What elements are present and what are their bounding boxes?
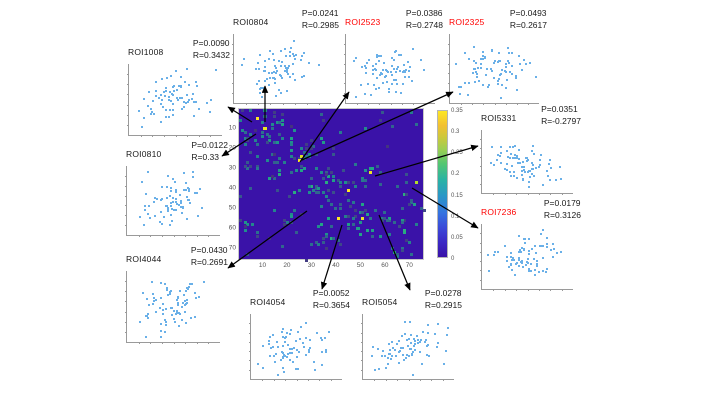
scatter-point bbox=[147, 105, 149, 107]
scatter-point bbox=[309, 347, 311, 349]
panel-header: ROI2325 P=0.0493 R=0.2617 bbox=[449, 8, 547, 34]
scatter-point bbox=[378, 87, 380, 89]
r-value: R=0.3432 bbox=[193, 50, 230, 62]
scatter-point bbox=[308, 349, 310, 351]
p-value: P=0.0052 bbox=[313, 288, 350, 300]
heatmap-cell bbox=[379, 235, 382, 238]
heatmap-cell bbox=[249, 109, 252, 112]
scatter-point bbox=[546, 246, 548, 248]
heatmap-cell bbox=[249, 165, 252, 168]
scatter-point bbox=[393, 79, 395, 81]
y-axis-tick bbox=[232, 44, 234, 45]
scatter-point bbox=[528, 186, 530, 188]
heatmap-cell bbox=[401, 221, 404, 224]
heatmap-cell bbox=[401, 207, 404, 210]
scatter-point bbox=[547, 175, 549, 177]
scatter-point bbox=[473, 60, 475, 62]
colorbar-tick-label: 0.1 bbox=[451, 214, 459, 220]
scatter-point bbox=[300, 59, 302, 61]
scatter-point bbox=[517, 162, 519, 164]
heatmap-x-tick-label: 50 bbox=[357, 262, 364, 269]
scatter-point bbox=[177, 296, 179, 298]
scatter-point bbox=[397, 66, 399, 68]
colorbar-tick-label: 0.2 bbox=[451, 171, 459, 177]
scatter-point bbox=[164, 283, 166, 285]
heatmap-cell bbox=[361, 203, 364, 206]
heatmap-y-tick-label: 10 bbox=[226, 125, 236, 132]
scatter-point bbox=[276, 70, 278, 72]
r-value: R=0.2617 bbox=[510, 20, 547, 32]
scatter-plot-area bbox=[250, 314, 342, 380]
scatter-point bbox=[270, 347, 272, 349]
heatmap-cell bbox=[339, 181, 342, 184]
heatmap-cell bbox=[330, 171, 333, 174]
panel-stats: P=0.0351 R=-0.2797 bbox=[541, 104, 581, 127]
scatter-point bbox=[391, 74, 393, 76]
scatter-point bbox=[372, 346, 374, 348]
scatter-point bbox=[403, 359, 405, 361]
scatter-point bbox=[152, 100, 154, 102]
x-axis-tick bbox=[270, 103, 271, 105]
scatter-point bbox=[513, 259, 515, 261]
x-axis-tick bbox=[176, 135, 177, 137]
heatmap-cell bbox=[330, 225, 333, 228]
y-axis-tick bbox=[232, 93, 234, 94]
y-axis-tick bbox=[125, 322, 127, 323]
y-axis-tick bbox=[127, 115, 129, 116]
scatter-point bbox=[163, 91, 165, 93]
scatter-point bbox=[509, 71, 511, 73]
scatter-point bbox=[165, 109, 167, 111]
heatmap-cell bbox=[310, 243, 313, 246]
scatter-point bbox=[508, 62, 510, 64]
scatter-point bbox=[287, 353, 289, 355]
scatter-point bbox=[373, 84, 375, 86]
heatmap-cell bbox=[369, 171, 372, 174]
p-value: P=0.0122 bbox=[191, 140, 228, 152]
scatter-point bbox=[160, 282, 162, 284]
scatter-point bbox=[378, 60, 380, 62]
scatter-point bbox=[264, 80, 266, 82]
scatter-point bbox=[286, 90, 288, 92]
scatter-point bbox=[555, 179, 557, 181]
heatmap-cell bbox=[354, 209, 357, 212]
scatter-point bbox=[524, 242, 526, 244]
heatmap-cell bbox=[332, 179, 335, 182]
panel-stats: P=0.0052 R=0.3654 bbox=[313, 288, 350, 311]
heatmap-cell bbox=[278, 133, 281, 136]
scatter-point bbox=[427, 324, 429, 326]
scatter-point bbox=[186, 302, 188, 304]
x-axis-tick bbox=[283, 103, 284, 105]
r-value: R=0.2691 bbox=[191, 257, 228, 269]
scatter-point bbox=[268, 72, 270, 74]
scatter-point bbox=[292, 361, 294, 363]
scatter-point bbox=[169, 109, 171, 111]
scatter-point bbox=[516, 177, 518, 179]
scatter-point bbox=[535, 76, 537, 78]
scatter-point bbox=[199, 188, 201, 190]
x-axis-tick bbox=[295, 103, 296, 105]
scatter-point bbox=[277, 346, 279, 348]
scatter-point bbox=[374, 369, 376, 371]
scatter-point bbox=[521, 260, 523, 262]
heatmap-cell bbox=[332, 147, 335, 150]
scatter-point bbox=[506, 256, 508, 258]
heatmap-cell bbox=[379, 183, 382, 186]
y-axis-tick bbox=[125, 281, 127, 282]
heatmap-cell bbox=[322, 119, 325, 122]
scatter-point bbox=[294, 79, 296, 81]
y-axis-tick bbox=[125, 215, 127, 216]
y-axis-tick bbox=[480, 157, 482, 158]
heatmap-cell bbox=[408, 241, 411, 244]
scatter-point bbox=[269, 336, 271, 338]
x-axis-tick bbox=[162, 342, 163, 344]
scatter-point bbox=[160, 330, 162, 332]
x-axis-tick bbox=[164, 135, 165, 137]
scatter-point bbox=[355, 96, 357, 98]
x-axis-tick bbox=[505, 289, 506, 291]
scatter-point bbox=[179, 290, 181, 292]
scatter-point bbox=[182, 206, 184, 208]
scatter-point bbox=[175, 201, 177, 203]
scatter-point bbox=[325, 351, 327, 353]
scatter-point bbox=[150, 108, 152, 110]
heatmap-cell bbox=[244, 143, 247, 146]
heatmap-cell bbox=[315, 153, 318, 156]
x-axis-tick bbox=[285, 379, 286, 381]
scatter-point bbox=[147, 171, 149, 173]
scatter-point bbox=[194, 316, 196, 318]
y-axis-tick bbox=[127, 105, 129, 106]
x-axis-tick bbox=[174, 235, 175, 237]
scatter-point bbox=[368, 59, 370, 61]
x-axis-tick bbox=[516, 193, 517, 195]
colorbar-tick-label: 0.35 bbox=[451, 108, 463, 114]
r-value: R=0.33 bbox=[191, 152, 228, 164]
scatter-point bbox=[289, 55, 291, 57]
y-axis-tick bbox=[125, 301, 127, 302]
scatter-point bbox=[297, 331, 299, 333]
r-value: R=0.2748 bbox=[406, 20, 443, 32]
heatmap-cell bbox=[322, 177, 325, 180]
heatmap-cell bbox=[256, 167, 259, 170]
scatter-point bbox=[303, 52, 305, 54]
scatter-point bbox=[143, 224, 145, 226]
roi-label: ROI5331 bbox=[481, 113, 516, 123]
scatter-point bbox=[171, 314, 173, 316]
roi-label: ROI5054 bbox=[362, 297, 397, 307]
scatter-point bbox=[497, 251, 499, 253]
scatter-point bbox=[408, 70, 410, 72]
scatter-point bbox=[289, 76, 291, 78]
scatter-point bbox=[521, 69, 523, 71]
heatmap-cell bbox=[339, 243, 342, 246]
scatter-point bbox=[509, 171, 511, 173]
scatter-point bbox=[518, 251, 520, 253]
scatter-panel-roi0810: ROI0810 P=0.0122 R=0.33 bbox=[126, 140, 228, 236]
scatter-point bbox=[372, 73, 374, 75]
colorbar-tick-label: 0.25 bbox=[451, 150, 463, 156]
scatter-point bbox=[412, 351, 414, 353]
scatter-point bbox=[160, 103, 162, 105]
scatter-point bbox=[188, 84, 190, 86]
panel-header: ROI1008 P=0.0090 R=0.3432 bbox=[128, 38, 230, 64]
scatter-point bbox=[173, 318, 175, 320]
x-axis-tick bbox=[307, 103, 308, 105]
scatter-point bbox=[142, 292, 144, 294]
scatter-point bbox=[273, 355, 275, 357]
scatter-point bbox=[172, 197, 174, 199]
heatmap-cell bbox=[244, 229, 247, 232]
y-axis-tick bbox=[127, 84, 129, 85]
heatmap-cell bbox=[278, 169, 281, 172]
panel-header: ROI0810 P=0.0122 R=0.33 bbox=[126, 140, 228, 166]
x-axis-tick bbox=[528, 289, 529, 291]
scatter-point bbox=[155, 81, 157, 83]
heatmap-cell bbox=[239, 195, 242, 198]
heatmap-cell bbox=[271, 175, 274, 178]
scatter-point bbox=[370, 94, 372, 96]
scatter-point bbox=[146, 315, 148, 317]
scatter-point bbox=[186, 299, 188, 301]
scatter-point bbox=[540, 154, 542, 156]
heatmap-cell bbox=[320, 171, 323, 174]
scatter-point bbox=[282, 345, 284, 347]
x-axis-tick bbox=[562, 193, 563, 195]
scatter-point bbox=[186, 94, 188, 96]
heatmap-cell bbox=[347, 189, 350, 192]
scatter-point bbox=[180, 76, 182, 78]
x-axis-tick bbox=[397, 379, 398, 381]
scatter-point bbox=[518, 235, 520, 237]
x-axis-tick bbox=[187, 135, 188, 137]
scatter-point bbox=[186, 68, 188, 70]
scatter-point bbox=[149, 217, 151, 219]
heatmap-y-tick-label: 60 bbox=[226, 225, 236, 232]
scatter-point bbox=[314, 369, 316, 371]
scatter-point bbox=[458, 86, 460, 88]
y-axis-tick bbox=[448, 83, 450, 84]
y-axis-tick bbox=[232, 54, 234, 55]
scatter-point bbox=[549, 159, 551, 161]
heatmap-cell bbox=[322, 241, 325, 244]
heatmap-cell bbox=[325, 235, 328, 238]
x-axis-tick bbox=[152, 135, 153, 137]
scatter-point bbox=[408, 76, 410, 78]
x-axis-tick bbox=[308, 379, 309, 381]
scatter-point bbox=[409, 321, 411, 323]
scatter-point bbox=[396, 343, 398, 345]
scatter-point bbox=[160, 121, 162, 123]
scatter-point bbox=[195, 101, 197, 103]
scatter-point bbox=[175, 191, 177, 193]
scatter-point bbox=[165, 321, 167, 323]
scatter-point bbox=[375, 88, 377, 90]
y-axis-tick bbox=[480, 175, 482, 176]
scatter-point bbox=[395, 50, 397, 52]
scatter-point bbox=[263, 70, 265, 72]
scatter-point bbox=[181, 306, 183, 308]
x-axis-tick bbox=[493, 289, 494, 291]
scatter-point bbox=[282, 367, 284, 369]
heatmap-cell bbox=[308, 155, 311, 158]
heatmap-colorbar: 00.050.10.150.20.250.30.35 bbox=[437, 110, 448, 258]
y-axis-tick bbox=[361, 351, 363, 352]
heatmap-cell bbox=[278, 173, 281, 176]
heatmap-y-tick-label: 20 bbox=[226, 145, 236, 152]
scatter-point bbox=[278, 60, 280, 62]
scatter-plot-area bbox=[345, 34, 435, 104]
scatter-point bbox=[258, 68, 260, 70]
heatmap-cell bbox=[325, 195, 328, 198]
heatmap-cell bbox=[342, 169, 345, 172]
scatter-point bbox=[464, 82, 466, 84]
scatter-point bbox=[375, 63, 377, 65]
scatter-point bbox=[167, 175, 169, 177]
scatter-point bbox=[281, 351, 283, 353]
heatmap-cell bbox=[246, 161, 249, 164]
heatmap-cell bbox=[344, 193, 347, 196]
heatmap-cell bbox=[374, 209, 377, 212]
scatter-point bbox=[497, 83, 499, 85]
scatter-point bbox=[166, 289, 168, 291]
scatter-point bbox=[147, 213, 149, 215]
heatmap-cell bbox=[391, 125, 394, 128]
scatter-point bbox=[262, 367, 264, 369]
scatter-point bbox=[383, 62, 385, 64]
heatmap-cell bbox=[295, 231, 298, 234]
scatter-point bbox=[526, 157, 528, 159]
scatter-point bbox=[309, 339, 311, 341]
heatmap-cell bbox=[273, 111, 276, 114]
scatter-point bbox=[191, 98, 193, 100]
scatter-point bbox=[174, 181, 176, 183]
x-axis-tick bbox=[185, 342, 186, 344]
x-axis-tick bbox=[516, 289, 517, 291]
scatter-point bbox=[411, 80, 413, 82]
scatter-point bbox=[528, 181, 530, 183]
y-axis-tick bbox=[125, 225, 127, 226]
heatmap-cell bbox=[276, 141, 279, 144]
scatter-point bbox=[290, 47, 292, 49]
scatter-point bbox=[195, 81, 197, 83]
heatmap-cell bbox=[415, 181, 418, 184]
scatter-point bbox=[380, 55, 382, 57]
scatter-point bbox=[525, 63, 527, 65]
scatter-point bbox=[425, 339, 427, 341]
scatter-point bbox=[510, 153, 512, 155]
scatter-point bbox=[320, 337, 322, 339]
heatmap-cell bbox=[366, 229, 369, 232]
scatter-point bbox=[516, 262, 518, 264]
scatter-point bbox=[152, 303, 154, 305]
scatter-point bbox=[297, 368, 299, 370]
heatmap-cell bbox=[256, 155, 259, 158]
scatter-point bbox=[148, 205, 150, 207]
scatter-point bbox=[486, 68, 488, 70]
scatter-point bbox=[289, 359, 291, 361]
scatter-point bbox=[169, 293, 171, 295]
scatter-point bbox=[560, 251, 562, 253]
scatter-point bbox=[262, 345, 264, 347]
scatter-point bbox=[531, 162, 533, 164]
heatmap-cell bbox=[263, 127, 266, 130]
scatter-point bbox=[493, 77, 495, 79]
scatter-point bbox=[409, 348, 411, 350]
scatter-point bbox=[404, 321, 406, 323]
scatter-point bbox=[143, 117, 145, 119]
scatter-point bbox=[515, 77, 517, 79]
scatter-point bbox=[447, 327, 449, 329]
scatter-point bbox=[280, 92, 282, 94]
x-axis-tick bbox=[368, 103, 369, 105]
scatter-point bbox=[516, 89, 518, 91]
scatter-point bbox=[428, 355, 430, 357]
scatter-point bbox=[445, 350, 447, 352]
heatmap-cell bbox=[347, 199, 350, 202]
scatter-point bbox=[285, 67, 287, 69]
scatter-point bbox=[398, 54, 400, 56]
heatmap-cell bbox=[300, 165, 303, 168]
scatter-point bbox=[166, 197, 168, 199]
heatmap-cell bbox=[263, 109, 266, 112]
y-axis-tick bbox=[249, 370, 251, 371]
scatter-point bbox=[318, 64, 320, 66]
scatter-point bbox=[399, 70, 401, 72]
scatter-point bbox=[536, 263, 538, 265]
x-axis-tick bbox=[493, 193, 494, 195]
heatmap-cell bbox=[290, 143, 293, 146]
heatmap-cell bbox=[281, 113, 284, 116]
scatter-point bbox=[206, 102, 208, 104]
scatter-point bbox=[542, 245, 544, 247]
scatter-point bbox=[515, 75, 517, 77]
scatter-point bbox=[198, 108, 200, 110]
scatter-point bbox=[510, 175, 512, 177]
y-axis-tick bbox=[249, 351, 251, 352]
roi-label: ROI4054 bbox=[250, 297, 285, 307]
p-value: P=0.0430 bbox=[191, 245, 228, 257]
heatmap-cell bbox=[244, 225, 247, 228]
heatmap-cell bbox=[410, 253, 413, 256]
scatter-point bbox=[183, 294, 185, 296]
scatter-point bbox=[523, 248, 525, 250]
scatter-point bbox=[169, 91, 171, 93]
scatter-point bbox=[241, 64, 243, 66]
scatter-point bbox=[170, 75, 172, 77]
scatter-point bbox=[167, 208, 169, 210]
y-axis-tick bbox=[127, 125, 129, 126]
scatter-point bbox=[139, 216, 141, 218]
scatter-point bbox=[491, 146, 493, 148]
scatter-point bbox=[519, 63, 521, 65]
scatter-point bbox=[151, 281, 153, 283]
panel-header: ROI2523 P=0.0386 R=0.2748 bbox=[345, 8, 443, 34]
scatter-point bbox=[194, 192, 196, 194]
scatter-point bbox=[195, 297, 197, 299]
scatter-point bbox=[176, 299, 178, 301]
scatter-point bbox=[174, 321, 176, 323]
scatter-point bbox=[201, 207, 203, 209]
x-axis-tick bbox=[139, 342, 140, 344]
scatter-point bbox=[258, 80, 260, 82]
scatter-point bbox=[280, 65, 282, 67]
scatter-point bbox=[165, 324, 167, 326]
scatter-point bbox=[491, 70, 493, 72]
colorbar-tick-label: 0.15 bbox=[451, 193, 463, 199]
